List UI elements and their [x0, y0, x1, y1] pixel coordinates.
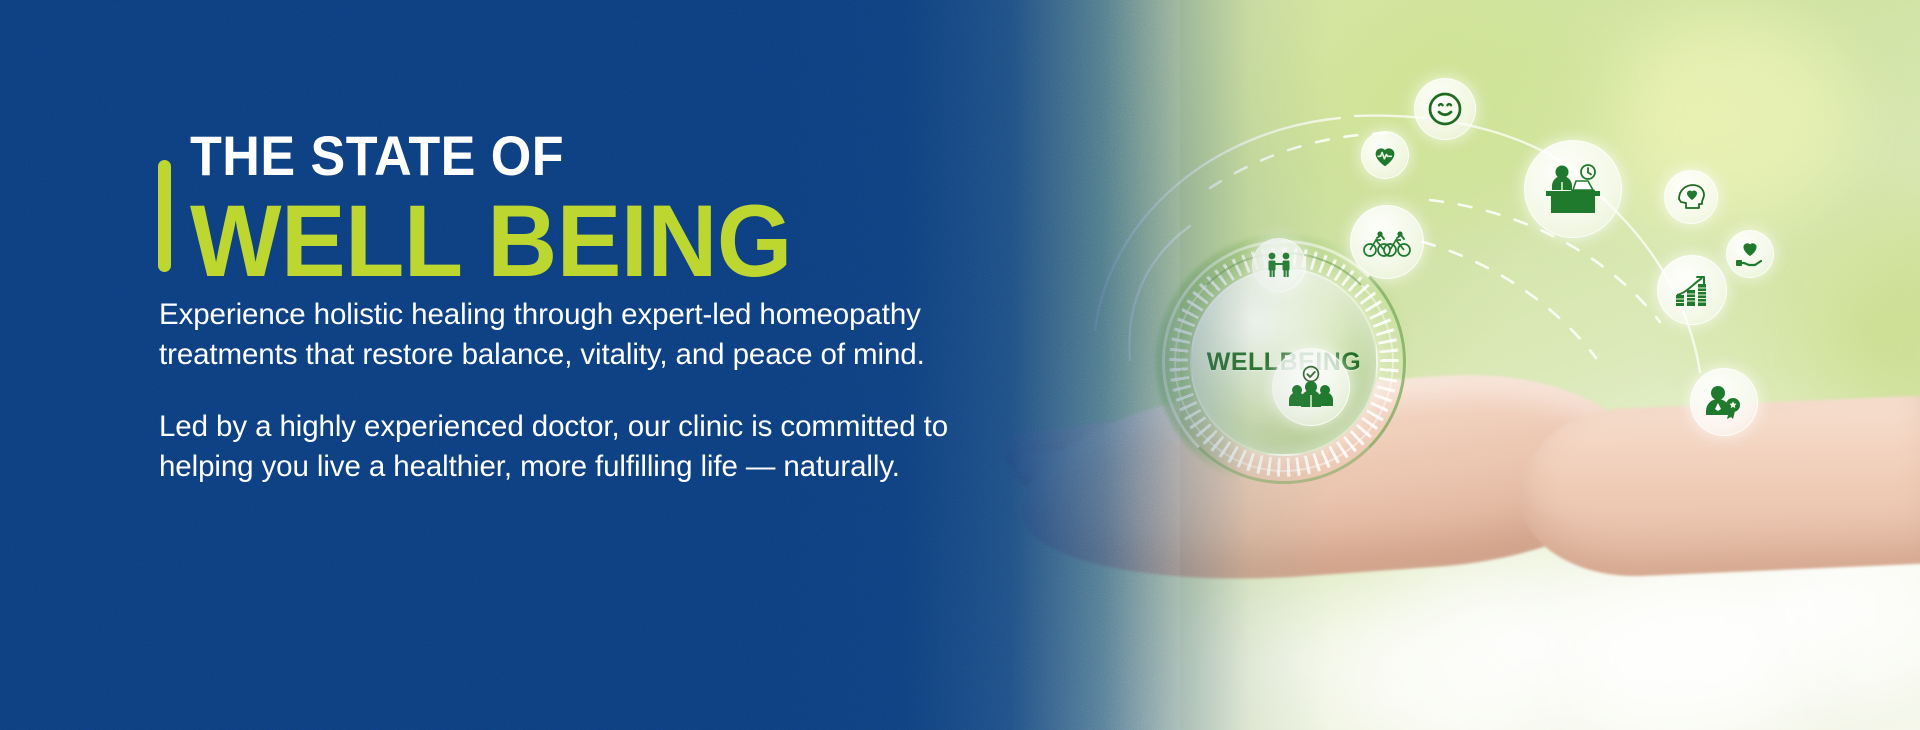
cyclists-icon — [1363, 222, 1411, 262]
head-heart-mind-icon — [1674, 181, 1708, 213]
headline-group: THE STATE OF WELL BEING — [190, 125, 1050, 293]
award-person-icon — [1702, 381, 1746, 423]
bubble-cyclists[interactable] — [1350, 205, 1424, 279]
page-title: WELL BEING — [190, 189, 1007, 293]
person-at-desk-icon — [1540, 159, 1606, 219]
bubble-award-person[interactable] — [1690, 368, 1758, 436]
hero-banner: WELLBEING — [0, 0, 1920, 730]
description-paragraph-1: Experience holistic healing through expe… — [159, 295, 979, 375]
description-block: Experience holistic healing through expe… — [159, 295, 979, 487]
bubble-head-heart-mind[interactable] — [1664, 170, 1718, 224]
bubble-growth-chart[interactable] — [1657, 255, 1727, 325]
growth-chart-icon — [1670, 269, 1714, 311]
heartbeat-heart-icon — [1370, 140, 1400, 170]
headline-kicker: THE STATE OF — [190, 125, 990, 187]
bubble-smiley-face[interactable] — [1414, 78, 1476, 140]
bubble-hand-holding-heart[interactable] — [1726, 230, 1774, 278]
bubble-heartbeat-heart[interactable] — [1361, 131, 1409, 179]
bubble-person-at-desk[interactable] — [1524, 140, 1622, 238]
description-paragraph-2: Led by a highly experienced doctor, our … — [159, 407, 979, 487]
hand-holding-heart-icon — [1734, 239, 1766, 269]
smiley-face-icon — [1427, 91, 1463, 127]
hero-content: THE STATE OF WELL BEING Experience holis… — [158, 0, 1058, 730]
accent-bar — [158, 160, 171, 272]
